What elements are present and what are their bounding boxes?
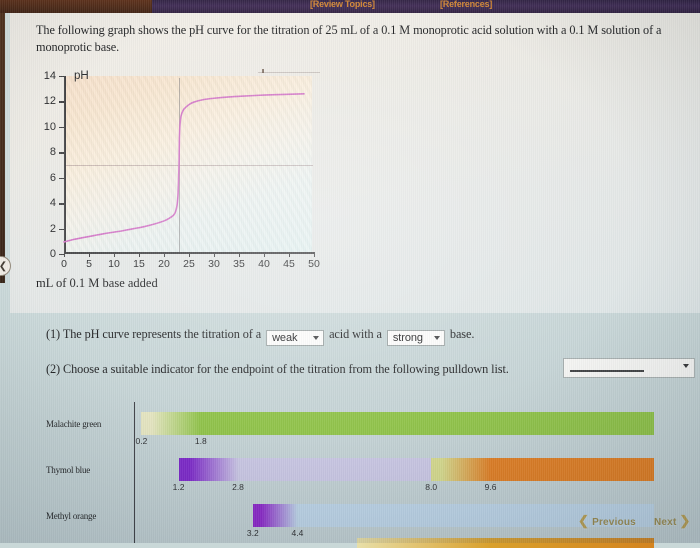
question-1-text-before: The pH curve represents the titration of… [63, 327, 261, 341]
y-tick [59, 127, 64, 128]
indicator-range-low: 0.2 [136, 436, 148, 446]
previous-button[interactable]: ❮ Previous [578, 513, 636, 529]
indicator-range-bar-partial [357, 538, 654, 548]
question-1-row: (1) The pH curve represents the titratio… [46, 327, 474, 346]
question-1-text-after: base. [450, 327, 474, 341]
indicator-range-high: 9.6 [485, 482, 497, 492]
indicator-range-high: 2.8 [232, 482, 244, 492]
y-tick-label: 14 [36, 70, 56, 82]
y-tick [59, 178, 64, 179]
x-tick [239, 252, 240, 257]
x-tick-label: 45 [283, 258, 295, 270]
review-topics-link[interactable]: [Review Topics] [310, 0, 375, 9]
indicator-range-low: 8.0 [425, 482, 437, 492]
x-tick-label: 30 [208, 258, 220, 270]
x-tick-label: 15 [133, 258, 145, 270]
y-tick-label: 2 [36, 223, 56, 235]
indicator-range-low: 1.2 [173, 482, 185, 492]
indicator-range-high: 1.8 [195, 436, 207, 446]
indicator-name: Malachite green [46, 419, 132, 429]
x-tick [289, 252, 290, 257]
base-strength-value: strong [393, 332, 423, 344]
x-tick [214, 252, 215, 257]
x-tick [264, 252, 265, 257]
x-tick [164, 252, 165, 257]
indicator-chart-axis [134, 402, 135, 543]
x-tick-label: 50 [308, 258, 320, 270]
acid-strength-dropdown[interactable]: weak [266, 330, 324, 346]
indicator-range-bar [141, 412, 654, 435]
indicator-name: Methyl orange [46, 511, 132, 521]
chevron-down-icon [683, 364, 689, 368]
question-2-number: (2) [46, 362, 60, 376]
question-2-text: Choose a suitable indicator for the endp… [63, 362, 509, 376]
x-tick [139, 252, 140, 257]
scan-artifact-line [258, 72, 320, 73]
chevron-right-icon: ❯ [679, 513, 690, 528]
question-1-number: (1) [46, 327, 60, 341]
y-tick [59, 76, 64, 77]
chevron-left-icon: ❮ [578, 513, 589, 528]
x-tick-label: 0 [61, 258, 67, 270]
y-tick-label: 12 [36, 95, 56, 107]
x-axis-label: mL of 0.1 M base added [36, 276, 158, 291]
x-tick [114, 252, 115, 257]
x-tick [314, 252, 315, 257]
indicator-range-high: 4.4 [292, 528, 304, 538]
y-tick [59, 101, 64, 102]
x-tick [189, 252, 190, 257]
ph-titration-chart: pH 02468101214 05101520253035404550 [36, 68, 326, 268]
base-strength-dropdown[interactable]: strong [387, 330, 445, 346]
question-2-row: (2) Choose a suitable indicator for the … [46, 362, 509, 377]
app-topbar: [Review Topics] [References] [0, 0, 700, 13]
y-tick [59, 203, 64, 204]
chevron-left-icon: ❮ [0, 261, 7, 272]
y-tick [59, 152, 64, 153]
pagination-controls: ❮ Previous Next ❯ [578, 513, 693, 533]
problem-statement: The following graph shows the pH curve f… [36, 22, 676, 57]
scan-artifact-dot [262, 69, 264, 73]
indicator-ph-range-chart: Malachite green0.21.8Thymol blue1.22.88.… [36, 400, 656, 543]
x-tick-label: 25 [183, 258, 195, 270]
y-tick [59, 229, 64, 230]
x-tick-label: 5 [86, 258, 92, 270]
left-edge-strip [0, 13, 5, 283]
indicator-select-dropdown[interactable] [563, 358, 695, 378]
indicator-range-low: 3.2 [247, 528, 259, 538]
x-tick-label: 20 [158, 258, 170, 270]
acid-strength-value: weak [272, 332, 297, 344]
y-tick-label: 6 [36, 172, 56, 184]
x-tick [64, 252, 65, 257]
titration-curve [64, 76, 314, 254]
chevron-down-icon [313, 336, 319, 340]
question-1-text-middle: acid with a [329, 327, 382, 341]
y-tick-label: 0 [36, 248, 56, 260]
dropdown-blank-placeholder [570, 370, 644, 372]
y-tick-label: 4 [36, 197, 56, 209]
x-tick-label: 35 [233, 258, 245, 270]
chevron-down-icon [434, 336, 440, 340]
y-tick-label: 10 [36, 121, 56, 133]
y-tick-label: 8 [36, 146, 56, 158]
next-button[interactable]: Next ❯ [654, 513, 691, 529]
references-link[interactable]: [References] [440, 0, 492, 9]
next-label: Next [654, 517, 676, 528]
x-tick-label: 40 [258, 258, 270, 270]
x-tick-label: 10 [108, 258, 120, 270]
previous-label: Previous [592, 517, 636, 528]
x-tick [89, 252, 90, 257]
indicator-name: Thymol blue [46, 465, 132, 475]
topbar-left-panel [0, 0, 152, 13]
indicator-range-bar [431, 458, 654, 481]
